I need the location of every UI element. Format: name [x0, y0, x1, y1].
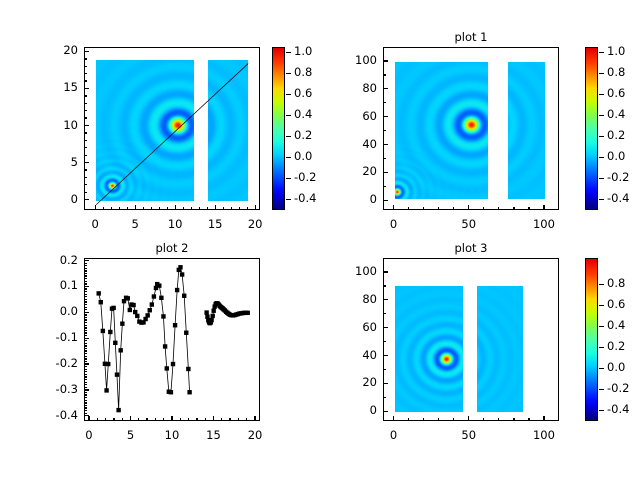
panel-bottom-right-patch-left-raster	[395, 286, 463, 412]
panel-top-right-patch-right-raster	[508, 62, 545, 199]
panel-bottom-right-xtick-minor	[513, 418, 514, 421]
panel-bottom-left-ytick-minor	[84, 330, 87, 331]
panel-top-left-cbticklabel: 0.8	[294, 65, 338, 79]
panel-top-left-ytick	[84, 199, 89, 200]
panel-top-left-ytick-minor	[84, 73, 87, 74]
panel-bottom-left-ytick-minor	[84, 392, 87, 393]
panel-top-right-yticklabel: 60	[321, 109, 377, 123]
panel-bottom-right-xtick-minor	[438, 418, 439, 421]
panel-bottom-right-cbtick	[599, 410, 604, 411]
panel-bottom-left-yticklabel: -0.2	[22, 356, 78, 370]
series-marker	[211, 309, 215, 313]
panel-bottom-left-xtick-minor	[238, 418, 239, 421]
panel-bottom-right-yticklabel: 60	[321, 320, 377, 334]
panel-top-right-cbtick	[599, 136, 604, 137]
panel-top-left-ytick	[84, 51, 89, 52]
series-marker	[157, 283, 161, 287]
panel-top-right-cbtick	[599, 178, 604, 179]
panel-top-right-ytick	[383, 60, 388, 61]
panel-bottom-right-cbticklabel: -0.4	[607, 402, 640, 416]
panel-bottom-right-cbtick	[599, 368, 604, 369]
panel-bottom-left-xtick-minor	[196, 418, 197, 421]
panel-bottom-left-xtick	[171, 416, 172, 421]
panel-top-right-patch-left-raster	[395, 62, 488, 199]
panel-top-right-yticklabel: 80	[321, 81, 377, 95]
series-marker	[173, 323, 177, 327]
panel-bottom-right-xticklabel: 100	[514, 428, 574, 442]
panel-top-right-xtick-minor	[438, 207, 439, 210]
panel-top-left-xtick	[175, 205, 176, 210]
panel-top-left-ytick	[84, 125, 89, 126]
panel-bottom-right-xtick-minor	[453, 418, 454, 421]
panel-bottom-right-ytick	[383, 299, 388, 300]
panel-top-left-yticklabel: 20	[22, 43, 78, 57]
panel-top-left-cbticklabel: 0.0	[294, 149, 338, 163]
panel-bottom-left-ytick	[84, 389, 89, 390]
panel-top-left-ytick-minor	[84, 140, 87, 141]
panel-top-right-cbtick	[599, 94, 604, 95]
panel-bottom-left-ytick-minor	[84, 309, 87, 310]
panel-top-left-xtick-minor	[143, 207, 144, 210]
series-marker	[106, 362, 110, 366]
panel-bottom-left-yticklabel: -0.1	[22, 330, 78, 344]
panel-top-right-cbticklabel: -0.2	[607, 170, 640, 184]
series-marker	[186, 367, 190, 371]
series-marker	[116, 408, 120, 412]
panel-top-left-xtick	[255, 205, 256, 210]
panel-top-right-patch-left	[395, 62, 488, 199]
panel-bottom-left-series-main	[97, 265, 192, 412]
panel-bottom-right-yticklabel: 100	[321, 264, 377, 278]
panel-bottom-right-patch-right-raster	[477, 286, 523, 412]
panel-top-left-ytick-minor	[84, 66, 87, 67]
panel-top-right-cbticklabel: 1.0	[607, 44, 640, 58]
panel-top-left-xtick	[95, 205, 96, 210]
panel-top-left-ytick-minor	[84, 169, 87, 170]
panel-bottom-left-ytick-minor	[84, 379, 87, 380]
panel-top-left-xtick-minor	[247, 207, 248, 210]
panel-bottom-right-cbtick	[599, 347, 604, 348]
panel-top-left-xtick-minor	[111, 207, 112, 210]
panel-top-left-ytick-minor	[84, 80, 87, 81]
panel-bottom-right-xtick-minor	[408, 418, 409, 421]
panel-bottom-left-ytick-minor	[84, 384, 87, 385]
panel-bottom-left-ytick-minor	[84, 358, 87, 359]
panel-bottom-left-xtick-minor	[188, 418, 189, 421]
panel-top-left-axes	[84, 47, 260, 210]
panel-bottom-left-ytick-minor	[84, 366, 87, 367]
panel-bottom-left-ytick-minor	[84, 402, 87, 403]
panel-bottom-right-ytick	[383, 327, 388, 328]
panel-top-left-colorbar[interactable]	[272, 47, 285, 210]
series-marker	[120, 321, 124, 325]
panel-top-right-xtick	[543, 205, 544, 210]
panel-top-right-ytick	[383, 200, 388, 201]
panel-bottom-right-title: plot 3	[353, 241, 589, 255]
panel-top-right-ytick	[383, 144, 388, 145]
series-marker	[133, 310, 137, 314]
panel-bottom-right-ytick	[383, 355, 388, 356]
series-marker	[187, 390, 191, 394]
panel-bottom-left-ytick-minor	[84, 322, 87, 323]
panel-bottom-right-yticklabel: 40	[321, 348, 377, 362]
series-marker	[104, 388, 108, 392]
panel-bottom-left-ytick-minor	[84, 356, 87, 357]
panel-bottom-right-xtick-minor	[483, 418, 484, 421]
panel-top-right-cbtick	[599, 199, 604, 200]
panel-top-left-yticklabel: 10	[22, 118, 78, 132]
panel-top-right-xtick-minor	[513, 207, 514, 210]
panel-bottom-right-xtick	[543, 416, 544, 421]
panel-top-right-ytick-minor	[383, 158, 386, 159]
series-marker	[111, 306, 115, 310]
panel-bottom-right-cbticklabel: 0.6	[607, 297, 640, 311]
panel-top-right-xtick	[468, 205, 469, 210]
panel-top-left-xtick	[215, 205, 216, 210]
panel-bottom-right-ytick-minor	[383, 313, 386, 314]
panel-bottom-left-xtick-minor	[205, 418, 206, 421]
series-marker	[145, 313, 149, 317]
panel-top-left-xtick-minor	[103, 207, 104, 210]
panel-bottom-left-ytick-minor	[84, 265, 87, 266]
panel-top-left-cbtick	[286, 73, 291, 74]
panel-bottom-left-ytick-minor	[84, 340, 87, 341]
series-marker	[175, 288, 179, 292]
panel-top-left-ytick-minor	[84, 58, 87, 59]
panel-bottom-right-ytick-minor	[383, 397, 386, 398]
panel-bottom-left-axes	[84, 258, 260, 421]
panel-bottom-right-cbtick	[599, 326, 604, 327]
panel-bottom-left-ytick	[84, 338, 89, 339]
series-marker	[99, 300, 103, 304]
panel-top-left-cbtick	[286, 136, 291, 137]
series-marker	[135, 314, 139, 318]
panel-top-left-cbtick	[286, 94, 291, 95]
panel-bottom-left-yticklabel: -0.4	[22, 408, 78, 422]
panel-top-left-ytick	[84, 162, 89, 163]
panel-bottom-left-ytick-minor	[84, 273, 87, 274]
panel-bottom-left-ytick-minor	[84, 283, 87, 284]
panel-bottom-left-ytick-minor	[84, 275, 87, 276]
panel-top-right-patch-right	[508, 62, 545, 199]
panel-bottom-left-ytick-minor	[84, 348, 87, 349]
panel-bottom-left-yticklabel: -0.3	[22, 382, 78, 396]
panel-top-right-cbtick	[599, 115, 604, 116]
panel-bottom-left-xtick-minor	[221, 418, 222, 421]
series-marker	[126, 296, 130, 300]
panel-bottom-left-ytick-minor	[84, 382, 87, 383]
panel-bottom-left-ytick-minor	[84, 374, 87, 375]
panel-bottom-left-ytick	[84, 312, 89, 313]
panel-bottom-left-ytick-minor	[84, 301, 87, 302]
series-marker	[210, 314, 214, 318]
panel-bottom-left-ytick-minor	[84, 405, 87, 406]
panel-top-left-xtick-minor	[191, 207, 192, 210]
series-marker	[209, 318, 213, 322]
panel-bottom-left-series-secondary	[204, 301, 250, 325]
panel-top-left-xtick-minor	[159, 207, 160, 210]
panel-top-right-colorbar[interactable]	[585, 47, 598, 210]
panel-top-left-ytick	[84, 88, 89, 89]
panel-bottom-left-yticklabel: 0.2	[22, 253, 78, 267]
panel-bottom-right-ytick	[383, 411, 388, 412]
panel-top-right-xtick-minor	[528, 207, 529, 210]
panel-top-left-yticklabel: 15	[22, 80, 78, 94]
panel-top-right-xtick-minor	[453, 207, 454, 210]
panel-bottom-left-ytick-minor	[84, 371, 87, 372]
panel-bottom-left-xticklabel: 20	[225, 428, 285, 442]
panel-top-right-cbtick	[599, 73, 604, 74]
panel-top-left-ytick-minor	[84, 95, 87, 96]
panel-top-left-xtick-minor	[199, 207, 200, 210]
panel-bottom-right-ytick-minor	[383, 285, 386, 286]
panel-bottom-right-cbticklabel: 0.2	[607, 339, 640, 353]
panel-top-right-xtick-minor	[423, 207, 424, 210]
panel-bottom-right-xtick	[393, 416, 394, 421]
series-marker	[108, 330, 112, 334]
panel-bottom-left-ytick-minor	[84, 296, 87, 297]
panel-bottom-left-ytick-minor	[84, 319, 87, 320]
panel-top-right-cbtick	[599, 157, 604, 158]
panel-bottom-left-xtick-minor	[122, 418, 123, 421]
panel-bottom-left-ytick	[84, 363, 89, 364]
panel-bottom-left-xtick-minor	[97, 418, 98, 421]
panel-bottom-left-ytick-minor	[84, 410, 87, 411]
panel-top-right-xtick	[393, 205, 394, 210]
panel-top-right-xtick-minor	[483, 207, 484, 210]
panel-bottom-left-yticklabel: 0.1	[22, 278, 78, 292]
panel-bottom-left-ytick-minor	[84, 291, 87, 292]
panel-top-right-ytick-minor	[383, 130, 386, 131]
panel-top-right-ytick-minor	[383, 102, 386, 103]
panel-bottom-right-axes	[383, 258, 559, 421]
panel-top-left-xticklabel: 20	[225, 217, 285, 231]
panel-top-right-ytick	[383, 88, 388, 89]
panel-bottom-left-ytick-minor	[84, 353, 87, 354]
panel-bottom-right-xticklabel: 50	[439, 428, 499, 442]
series-marker	[148, 308, 152, 312]
panel-bottom-left-ytick-minor	[84, 299, 87, 300]
panel-bottom-left-ytick-minor	[84, 270, 87, 271]
panel-bottom-left-ytick-minor	[84, 325, 87, 326]
panel-bottom-left-xtick	[254, 416, 255, 421]
panel-top-left-ytick-minor	[84, 155, 87, 156]
panel-top-left-cbtick	[286, 157, 291, 158]
series-marker	[169, 390, 173, 394]
panel-bottom-right-yticklabel: 80	[321, 292, 377, 306]
series-marker	[113, 341, 117, 345]
panel-bottom-left-ytick-minor	[84, 369, 87, 370]
panel-bottom-right-patch-right	[477, 286, 523, 412]
series-marker	[159, 296, 163, 300]
panel-top-left-ytick-minor	[84, 132, 87, 133]
panel-bottom-left-ytick-minor	[84, 314, 87, 315]
series-marker	[246, 311, 250, 315]
series-marker	[101, 329, 105, 333]
panel-top-right-cbticklabel: 0.8	[607, 65, 640, 79]
panel-bottom-left-ytick	[84, 260, 89, 261]
panel-bottom-right-ytick-minor	[383, 341, 386, 342]
panel-top-left-ytick-minor	[84, 192, 87, 193]
panel-bottom-left-yticklabel: 0.0	[22, 304, 78, 318]
figure-canvas: 05101520051015201.00.80.60.40.20.0-0.2-0…	[0, 0, 640, 480]
panel-bottom-left-ytick-minor	[84, 345, 87, 346]
panel-bottom-left-ytick-minor	[84, 407, 87, 408]
series-marker	[180, 272, 184, 276]
panel-top-left-ytick-minor	[84, 177, 87, 178]
series-marker	[165, 366, 169, 370]
panel-bottom-left-ytick-minor	[84, 376, 87, 377]
panel-top-right-yticklabel: 100	[321, 53, 377, 67]
panel-bottom-left-xtick-minor	[229, 418, 230, 421]
panel-bottom-left-ytick	[84, 286, 89, 287]
panel-bottom-right-xtick-minor	[528, 418, 529, 421]
panel-top-right-xticklabel: 50	[439, 217, 499, 231]
panel-top-right-ytick-minor	[383, 186, 386, 187]
panel-top-right-yticklabel: 40	[321, 137, 377, 151]
series-marker	[150, 302, 154, 306]
panel-top-left-yticklabel: 0	[22, 192, 78, 206]
panel-top-right-xticklabel: 100	[514, 217, 574, 231]
panel-top-left-cbtick	[286, 52, 291, 53]
panel-top-left-xtick-minor	[207, 207, 208, 210]
panel-bottom-left-xtick-minor	[105, 418, 106, 421]
panel-top-right-xtick-minor	[408, 207, 409, 210]
panel-bottom-left-xtick-minor	[163, 418, 164, 421]
series-marker	[163, 344, 167, 348]
panel-bottom-right-cbticklabel: 0.4	[607, 318, 640, 332]
series-marker	[178, 265, 182, 269]
panel-top-left-xtick	[135, 205, 136, 210]
panel-bottom-left-ytick-minor	[84, 361, 87, 362]
panel-bottom-left-ytick-minor	[84, 400, 87, 401]
panel-top-left-xtick-minor	[167, 207, 168, 210]
panel-top-left-yticklabel: 5	[22, 155, 78, 169]
panel-top-left-cbtick	[286, 178, 291, 179]
panel-top-right-axes	[383, 47, 559, 210]
panel-bottom-left-ytick-minor	[84, 281, 87, 282]
panel-bottom-left-xtick	[213, 416, 214, 421]
panel-top-left-ytick-minor	[84, 117, 87, 118]
series-marker	[119, 348, 123, 352]
panel-bottom-left-series-layer	[85, 259, 260, 421]
panel-bottom-left-ytick-minor	[84, 304, 87, 305]
panel-bottom-left-ytick-minor	[84, 335, 87, 336]
panel-bottom-left-ytick-minor	[84, 413, 87, 414]
panel-bottom-right-colorbar[interactable]	[585, 258, 598, 421]
panel-bottom-left-ytick-minor	[84, 332, 87, 333]
panel-top-left-ytick-minor	[84, 147, 87, 148]
panel-bottom-left-xtick-minor	[113, 418, 114, 421]
panel-bottom-left-ytick-minor	[84, 387, 87, 388]
panel-bottom-left-xtick-minor	[246, 418, 247, 421]
panel-bottom-left-xtick	[88, 416, 89, 421]
panel-top-right-cbticklabel: -0.4	[607, 191, 640, 205]
panel-bottom-right-yticklabel: 20	[321, 375, 377, 389]
panel-bottom-left-ytick-minor	[84, 278, 87, 279]
series-marker	[128, 308, 132, 312]
panel-top-left-xtick-minor	[223, 207, 224, 210]
panel-top-left-cbtick	[286, 115, 291, 116]
series-marker	[152, 294, 156, 298]
panel-bottom-right-cbtick	[599, 389, 604, 390]
series-marker	[115, 372, 119, 376]
panel-top-left-xtick-minor	[231, 207, 232, 210]
panel-bottom-right-cbticklabel: 0.8	[607, 276, 640, 290]
panel-bottom-left-xtick-minor	[180, 418, 181, 421]
panel-top-right-xticklabel: 0	[364, 217, 424, 231]
panel-bottom-left-ytick-minor	[84, 350, 87, 351]
panel-top-left-xtick-minor	[127, 207, 128, 210]
panel-bottom-right-xtick	[468, 416, 469, 421]
panel-top-left-xtick-minor	[119, 207, 120, 210]
panel-top-left-diagonal-line	[85, 48, 260, 210]
panel-bottom-right-cbtick	[599, 305, 604, 306]
panel-top-left-ytick-minor	[84, 184, 87, 185]
panel-top-left-cbtick	[286, 199, 291, 200]
panel-top-right-xtick-minor	[498, 207, 499, 210]
panel-bottom-left-ytick-minor	[84, 397, 87, 398]
panel-top-right-cbticklabel: 0.6	[607, 86, 640, 100]
panel-bottom-left-ytick-minor	[84, 294, 87, 295]
panel-bottom-left-ytick-minor	[84, 317, 87, 318]
series-marker	[204, 310, 208, 314]
panel-top-left-xtick-minor	[151, 207, 152, 210]
panel-top-right-cbtick	[599, 52, 604, 53]
panel-top-right-ytick	[383, 172, 388, 173]
series-marker	[161, 314, 165, 318]
panel-bottom-right-ytick	[383, 271, 388, 272]
panel-bottom-left-xtick-minor	[146, 418, 147, 421]
panel-top-right-cbticklabel: 0.4	[607, 107, 640, 121]
panel-top-right-yticklabel: 0	[321, 192, 377, 206]
panel-bottom-right-cbtick	[599, 284, 604, 285]
panel-bottom-right-ytick-minor	[383, 369, 386, 370]
panel-bottom-right-ytick	[383, 383, 388, 384]
panel-bottom-right-cbticklabel: 0.0	[607, 360, 640, 374]
panel-bottom-right-xticklabel: 0	[364, 428, 424, 442]
panel-bottom-left-ytick-minor	[84, 327, 87, 328]
panel-top-right-cbticklabel: 0.2	[607, 128, 640, 142]
series-marker	[184, 331, 188, 335]
panel-top-left-ytick-minor	[84, 110, 87, 111]
panel-bottom-right-patch-left	[395, 286, 463, 412]
panel-bottom-left-ytick-minor	[84, 343, 87, 344]
panel-bottom-left-ytick-minor	[84, 263, 87, 264]
panel-bottom-left-xtick-minor	[155, 418, 156, 421]
panel-bottom-left-ytick-minor	[84, 394, 87, 395]
panel-bottom-left-ytick-minor	[84, 288, 87, 289]
series-marker	[171, 362, 175, 366]
panel-top-right-yticklabel: 20	[321, 164, 377, 178]
panel-top-right-ytick-minor	[383, 74, 386, 75]
panel-bottom-left-xtick-minor	[138, 418, 139, 421]
panel-bottom-right-xtick-minor	[498, 418, 499, 421]
panel-top-left-xtick-minor	[239, 207, 240, 210]
panel-top-right-title: plot 1	[353, 30, 589, 44]
panel-bottom-right-xtick-minor	[423, 418, 424, 421]
panel-top-left-ytick-minor	[84, 103, 87, 104]
panel-top-left-xtick-minor	[183, 207, 184, 210]
series-marker	[182, 294, 186, 298]
panel-top-right-cbticklabel: 0.0	[607, 149, 640, 163]
panel-bottom-left-ytick-minor	[84, 307, 87, 308]
panel-top-right-ytick	[383, 116, 388, 117]
panel-bottom-right-cbticklabel: -0.2	[607, 381, 640, 395]
panel-bottom-left-xtick	[130, 416, 131, 421]
panel-bottom-left-title: plot 2	[54, 241, 290, 255]
panel-bottom-right-yticklabel: 0	[321, 403, 377, 417]
